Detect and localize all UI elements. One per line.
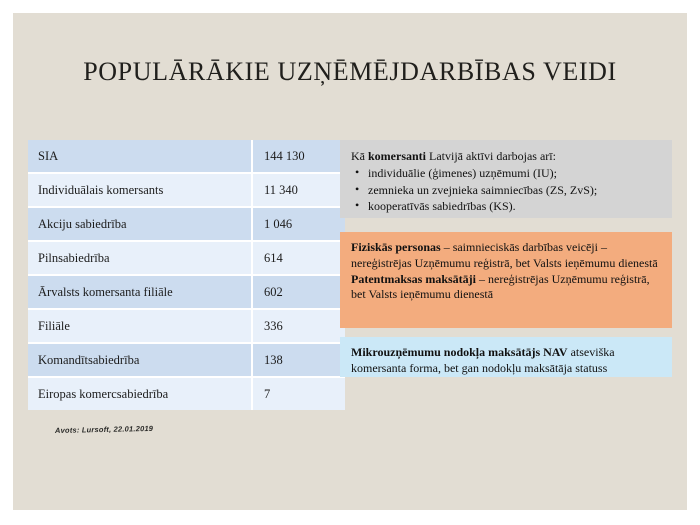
list-item: zemnieka un zvejnieka saimniecības (ZS, … [351,183,662,199]
table-row: Filiāle 336 [28,309,345,343]
table-cell-count: 614 [252,241,345,275]
presentation-slide: POPULĀRĀKIE UZŅĒMĒJDARBĪBAS VEIDI SIA 14… [13,13,687,510]
fiziskas-paragraph: Fiziskās personas – saimnieciskās darbīb… [351,240,662,272]
table-cell-count: 602 [252,275,345,309]
table-cell-name: Ārvalsts komersanta filiāle [28,275,252,309]
table-row: Ārvalsts komersanta filiāle 602 [28,275,345,309]
patentmaksas-paragraph: Patentmaksas maksātāji – nereģistrējas U… [351,272,662,304]
table-cell-count: 144 130 [252,140,345,173]
table-row: Eiropas komercsabiedrība 7 [28,377,345,410]
table-cell-name: Individuālais komersants [28,173,252,207]
table-cell-count: 138 [252,343,345,377]
table-cell-count: 336 [252,309,345,343]
table-row: SIA 144 130 [28,140,345,173]
table-cell-count: 11 340 [252,173,345,207]
komersanti-lead-prefix: Kā [351,149,368,163]
table-cell-name: Eiropas komercsabiedrība [28,377,252,410]
table-row: Pilnsabiedrība 614 [28,241,345,275]
table-cell-name: Pilnsabiedrība [28,241,252,275]
patentmaksas-bold-term: Patentmaksas maksātāji [351,272,476,286]
table-cell-name: SIA [28,140,252,173]
fiziskas-bold-term: Fiziskās personas [351,240,441,254]
komersanti-lead-rest: Latvijā aktīvi darbojas arī: [426,149,556,163]
business-types-table: SIA 144 130 Individuālais komersants 11 … [28,140,345,410]
komersanti-lead: Kā komersanti Latvijā aktīvi darbojas ar… [351,149,662,165]
fiziskas-personas-panel: Fiziskās personas – saimnieciskās darbīb… [340,232,672,328]
table-cell-count: 1 046 [252,207,345,241]
source-note: Avots: Lursoft, 22.01.2019 [55,424,153,435]
table-cell-name: Komandītsabiedrība [28,343,252,377]
mikrouznemumu-panel: Mikrouzņēmumu nodokļa maksātājs NAV atse… [340,337,672,377]
mikro-paragraph: Mikrouzņēmumu nodokļa maksātājs NAV atse… [351,345,662,377]
komersanti-bullet-list: individuālie (ģimenes) uzņēmumi (IU); ze… [351,166,662,215]
table-body: SIA 144 130 Individuālais komersants 11 … [28,140,345,410]
komersanti-panel: Kā komersanti Latvijā aktīvi darbojas ar… [340,140,672,218]
table-cell-name: Akciju sabiedrība [28,207,252,241]
table-row: Komandītsabiedrība 138 [28,343,345,377]
page-title: POPULĀRĀKIE UZŅĒMĒJDARBĪBAS VEIDI [13,57,687,87]
table-row: Individuālais komersants 11 340 [28,173,345,207]
list-item: individuālie (ģimenes) uzņēmumi (IU); [351,166,662,182]
list-item: kooperatīvās sabiedrības (KS). [351,199,662,215]
table-row: Akciju sabiedrība 1 046 [28,207,345,241]
table-cell-count: 7 [252,377,345,410]
komersanti-lead-bold: komersanti [368,149,426,163]
table-cell-name: Filiāle [28,309,252,343]
mikro-bold-term: Mikrouzņēmumu nodokļa maksātājs NAV [351,345,568,359]
